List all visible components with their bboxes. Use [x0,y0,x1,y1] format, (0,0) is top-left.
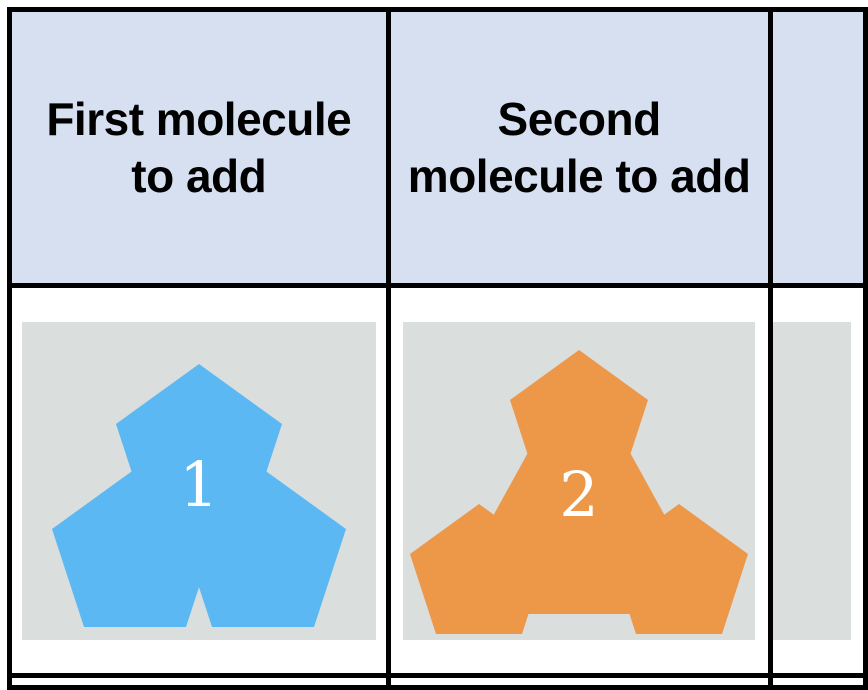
second-molecule-number: 2 [559,458,598,531]
first-molecule-figure: 1 [22,322,376,640]
cell-next-second [388,676,770,688]
cell-second-molecule: 2 [388,286,770,676]
table-header-row: First molecule to add Second molecule to… [10,10,866,286]
third-molecule-figure-clipped [773,322,851,640]
first-molecule-number: 1 [179,448,218,521]
cell-first-molecule: 1 [10,286,389,676]
column-header-second-molecule: Second molecule to add [388,10,770,286]
trimer-pentagon-cluster-icon: 1 [22,322,376,640]
table-row: 1 [10,286,866,676]
comparison-table-container: First molecule to add Second molecule to… [0,0,868,688]
column-header-first-molecule: First molecule to add [10,10,389,286]
column-header-first-molecule-label: First molecule to add [26,91,372,203]
triangle-pentagon-vertices-icon: 2 [403,322,755,640]
cell-next-first [10,676,389,688]
column-header-third [770,10,865,286]
cell-next-third [770,676,865,688]
column-header-second-molecule-label: Second molecule to add [405,91,754,203]
cell-third-molecule [770,286,865,676]
second-molecule-figure: 2 [403,322,755,640]
molecule-comparison-table: First molecule to add Second molecule to… [7,7,868,690]
table-next-row [10,676,866,688]
